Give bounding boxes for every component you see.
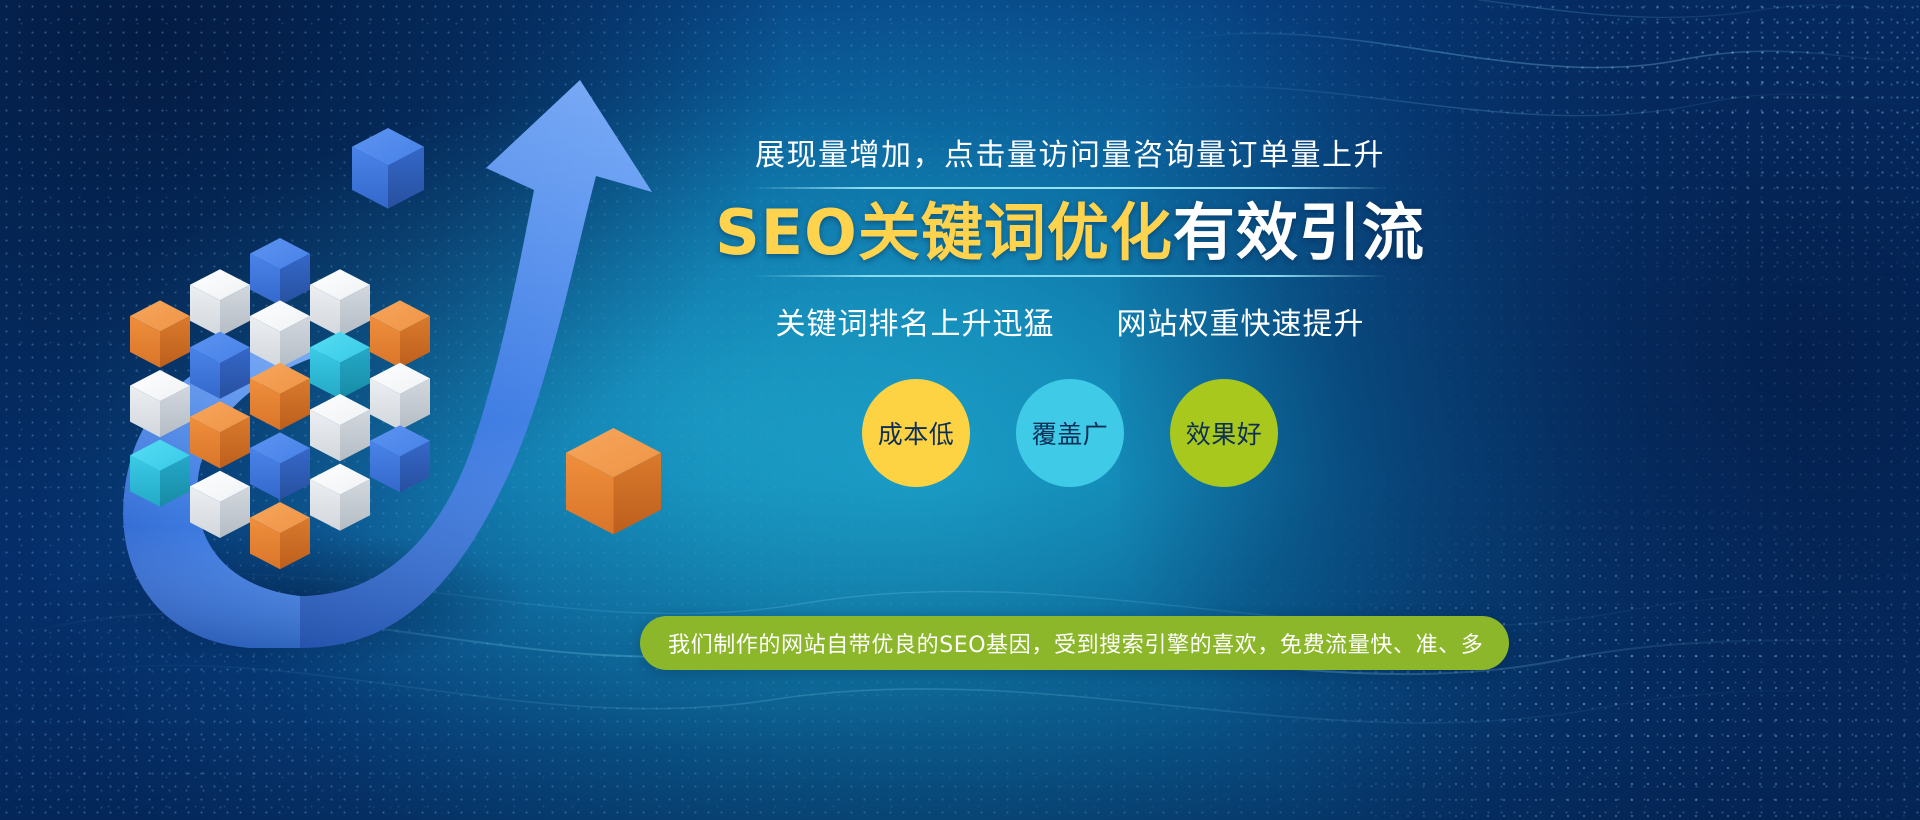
floating-orange-cube (566, 428, 661, 534)
headline-highlight: SEO关键词优化 (715, 196, 1173, 269)
headline-divider-top (752, 187, 1388, 189)
banner-eyebrow: 展现量增加，点击量访问量咨询量订单量上升 (660, 130, 1480, 174)
seo-promo-banner: 展现量增加，点击量访问量咨询量订单量上升 SEO关键词优化有效引流 关键词排名上… (0, 0, 1920, 820)
feature-badges: 成本低 覆盖广 效果好 (660, 379, 1480, 487)
feature-badge-coverage-label: 覆盖广 (1032, 415, 1109, 451)
feature-badge-effect-label: 效果好 (1186, 415, 1263, 451)
banner-headline: SEO关键词优化有效引流 (660, 199, 1480, 267)
banner-subline: 关键词排名上升迅猛 网站权重快速提升 (660, 299, 1480, 343)
headline-divider-bottom (752, 275, 1388, 277)
feature-badge-cost[interactable]: 成本低 (862, 379, 970, 487)
feature-badge-coverage[interactable]: 覆盖广 (1016, 379, 1124, 487)
banner-copy-block: 展现量增加，点击量访问量咨询量订单量上升 SEO关键词优化有效引流 关键词排名上… (660, 130, 1480, 487)
feature-badge-cost-label: 成本低 (878, 415, 955, 451)
floating-blue-cube (352, 128, 424, 209)
tagline-text: 我们制作的网站自带优良的SEO基因，受到搜索引擎的喜欢，免费流量快、准、多 (668, 627, 1483, 659)
feature-badge-effect[interactable]: 效果好 (1170, 379, 1278, 487)
hero-artwork (0, 0, 760, 820)
tagline-bar: 我们制作的网站自带优良的SEO基因，受到搜索引擎的喜欢，免费流量快、准、多 (640, 616, 1509, 670)
headline-rest: 有效引流 (1173, 196, 1425, 269)
